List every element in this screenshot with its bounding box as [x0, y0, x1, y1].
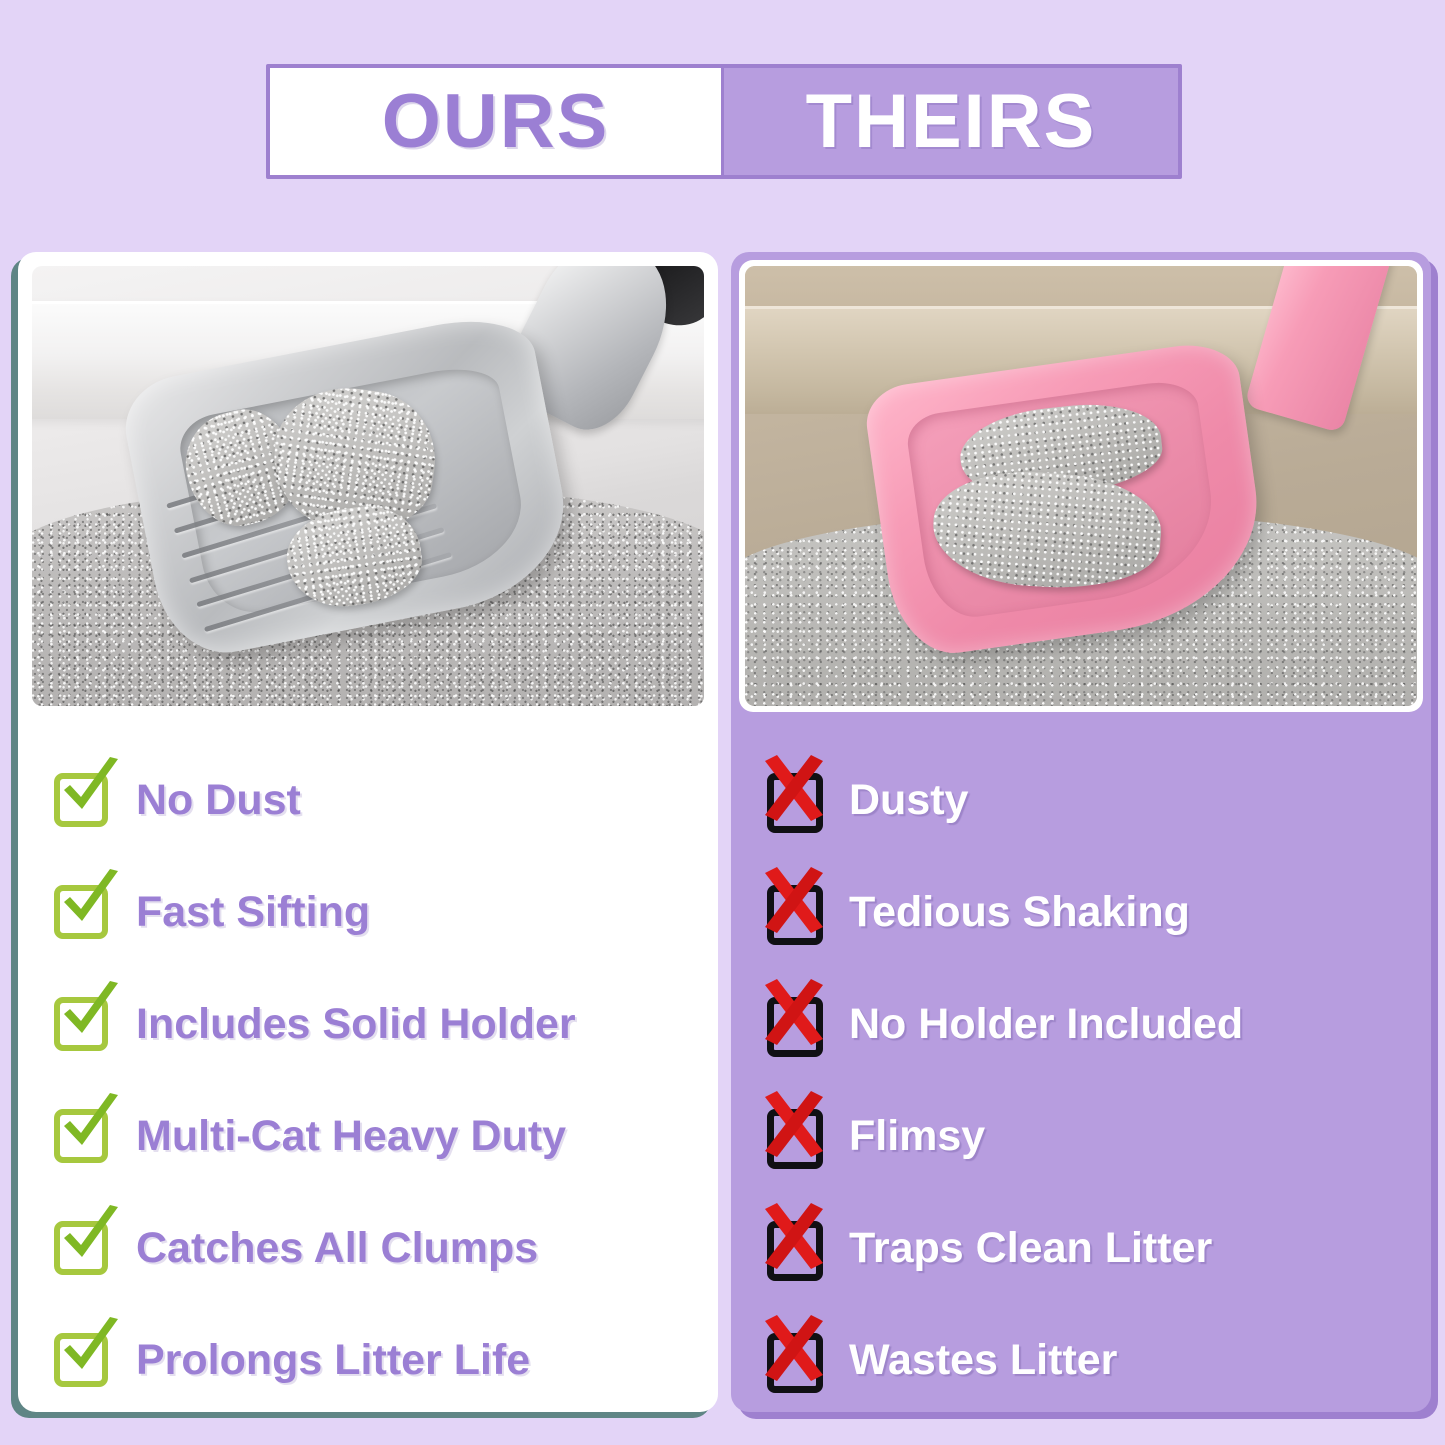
header-ours-label: OURS	[382, 84, 610, 160]
header-theirs-panel: THEIRS	[724, 68, 1178, 175]
list-item: Multi-Cat Heavy Duty	[48, 1080, 698, 1192]
list-item-label: Includes Solid Holder	[136, 1003, 576, 1046]
list-item: No Dust	[48, 744, 698, 856]
x-icon	[761, 877, 831, 947]
list-item: Includes Solid Holder	[48, 968, 698, 1080]
check-icon	[48, 765, 118, 835]
list-item: Wastes Litter	[761, 1304, 1411, 1416]
list-item-label: Tedious Shaking	[849, 891, 1190, 934]
x-icon	[761, 1213, 831, 1283]
list-item: Dusty	[761, 744, 1411, 856]
check-icon	[48, 877, 118, 947]
theirs-photo-frame	[739, 260, 1423, 712]
check-icon	[48, 1325, 118, 1395]
list-item-label: Prolongs Litter Life	[136, 1339, 530, 1382]
theirs-product-photo	[745, 266, 1417, 706]
list-item: Prolongs Litter Life	[48, 1304, 698, 1416]
list-item: Fast Sifting	[48, 856, 698, 968]
list-item: Catches All Clumps	[48, 1192, 698, 1304]
list-item-label: Flimsy	[849, 1115, 985, 1158]
x-icon	[761, 989, 831, 1059]
ours-card: No Dust Fast Sifting Includes Solid Hold…	[18, 252, 718, 1412]
theirs-card: Dusty Tedious Shaking No Holder Included	[731, 252, 1431, 1412]
list-item-label: No Dust	[136, 779, 301, 822]
header-theirs-label: THEIRS	[806, 84, 1097, 160]
header-ours-panel: OURS	[270, 68, 724, 175]
x-icon	[761, 1325, 831, 1395]
list-item: Tedious Shaking	[761, 856, 1411, 968]
list-item: Traps Clean Litter	[761, 1192, 1411, 1304]
x-icon	[761, 1101, 831, 1171]
list-item-label: Dusty	[849, 779, 968, 822]
ours-feature-list: No Dust Fast Sifting Includes Solid Hold…	[48, 744, 698, 1416]
check-icon	[48, 989, 118, 1059]
list-item-label: Catches All Clumps	[136, 1227, 538, 1270]
ours-product-photo	[32, 266, 704, 706]
check-icon	[48, 1213, 118, 1283]
list-item: Flimsy	[761, 1080, 1411, 1192]
list-item-label: Multi-Cat Heavy Duty	[136, 1115, 566, 1158]
list-item-label: Fast Sifting	[136, 891, 370, 934]
list-item: No Holder Included	[761, 968, 1411, 1080]
list-item-label: No Holder Included	[849, 1003, 1243, 1046]
list-item-label: Wastes Litter	[849, 1339, 1117, 1382]
x-icon	[761, 765, 831, 835]
check-icon	[48, 1101, 118, 1171]
list-item-label: Traps Clean Litter	[849, 1227, 1212, 1270]
comparison-header-bar: OURS THEIRS	[266, 64, 1182, 179]
ours-photo-frame	[26, 260, 710, 712]
theirs-drawback-list: Dusty Tedious Shaking No Holder Included	[761, 744, 1411, 1416]
